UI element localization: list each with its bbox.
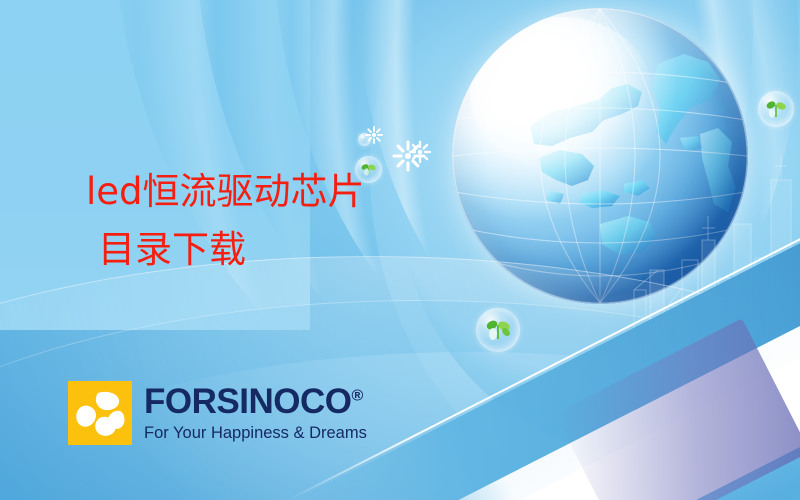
headline-line-2: 目录下载 [86,221,365,279]
sprout-icon [758,91,794,127]
sprout-icon [476,308,520,352]
sparkle-left-globe-icon [408,140,432,164]
logo-tagline: For Your Happiness & Dreams [144,425,367,442]
headline-line-1: led恒流驱动芯片 [86,170,365,213]
promo-banner: led恒流驱动芯片 目录下载 FORSINOCO® For Your Happi… [0,0,800,500]
headline: led恒流驱动芯片 目录下载 [86,163,365,280]
bubble-top-small [358,133,371,146]
logo-brand-name: FORSINOCO® [144,384,367,419]
logo-brand-word: FORSINOCO [144,382,351,421]
brand-logo: FORSINOCO® For Your Happiness & Dreams [68,381,367,445]
bubble-sprout-lower [476,308,520,352]
logo-mark [68,381,132,445]
four-petal-flower-icon [68,381,132,445]
registered-trademark-icon: ® [351,388,362,405]
bubble-right-edge [758,91,794,127]
logo-text-block: FORSINOCO® For Your Happiness & Dreams [144,384,367,442]
